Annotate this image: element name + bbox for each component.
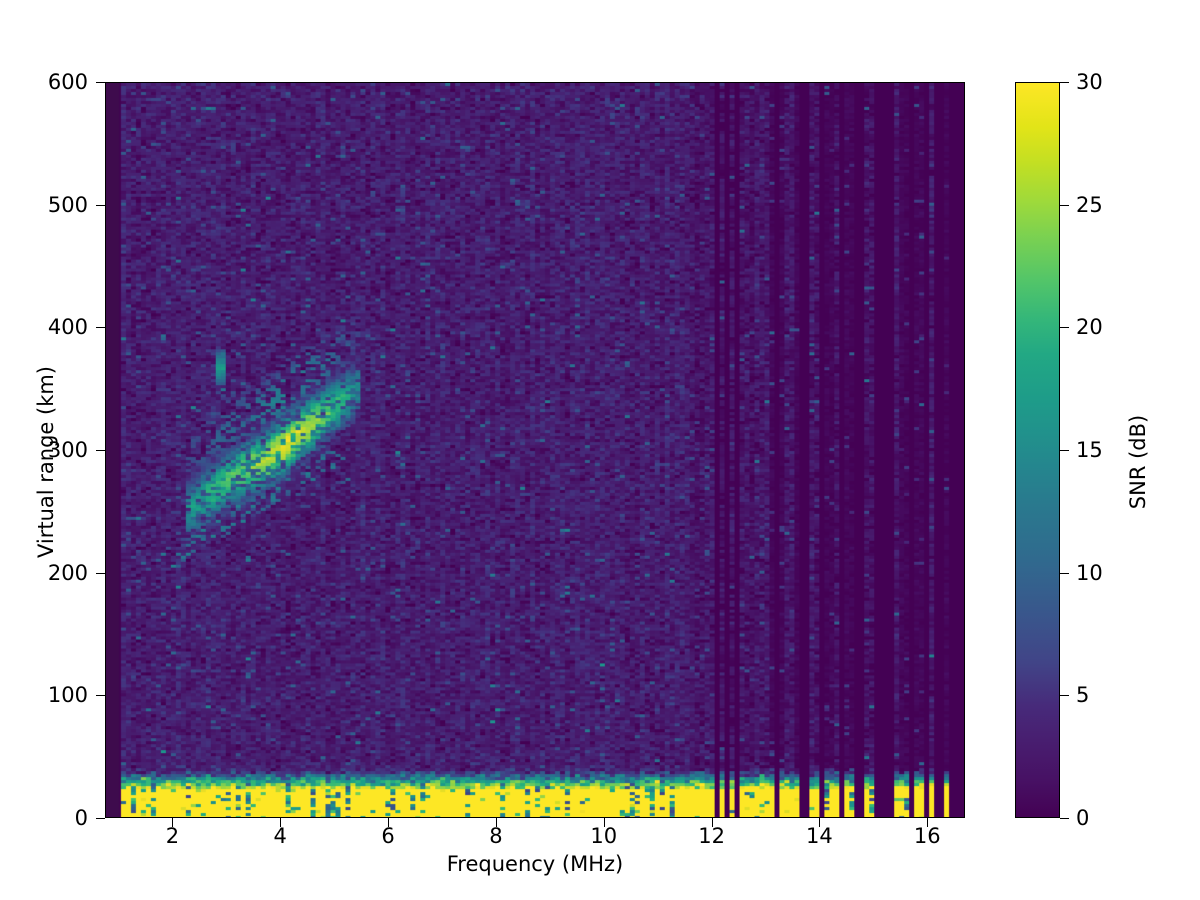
ionogram-plot-area[interactable] [105,82,965,818]
x-tick-label: 16 [914,824,941,848]
colorbar-tick-label: 10 [1076,561,1103,585]
ionogram-figure: IRF Kiruna Ionosonde KI167 2026-03-04 17… [0,0,1200,900]
colorbar-tick-mark [1060,450,1069,451]
x-tick-label: 6 [381,824,394,848]
y-tick-mark [96,327,105,328]
ionogram-heatmap [106,83,964,817]
y-tick-mark [96,573,105,574]
colorbar-tick-mark [1060,695,1069,696]
y-axis-label: Virtual range (km) [34,212,58,712]
colorbar-tick-mark [1060,327,1069,328]
x-tick-label: 14 [806,824,833,848]
colorbar-tick-label: 5 [1076,683,1089,707]
y-tick-mark [96,205,105,206]
y-tick-mark [96,818,105,819]
colorbar-tick-mark [1060,82,1069,83]
x-tick-label: 4 [274,824,287,848]
colorbar-gradient [1015,82,1060,818]
colorbar-tick-mark [1060,818,1069,819]
y-tick-mark [96,450,105,451]
colorbar-tick-mark [1060,205,1069,206]
y-tick-mark [96,82,105,83]
y-tick-label: 0 [75,806,88,830]
colorbar-label: SNR (dB) [1126,262,1150,662]
x-tick-label: 10 [590,824,617,848]
x-tick-label: 12 [698,824,725,848]
x-tick-label: 8 [489,824,502,848]
y-tick-label: 600 [48,70,88,94]
colorbar-tick-label: 25 [1076,193,1103,217]
colorbar-tick-mark [1060,573,1069,574]
x-axis-label: Frequency (MHz) [105,852,965,876]
colorbar-tick-label: 15 [1076,438,1103,462]
colorbar-tick-label: 0 [1076,806,1089,830]
colorbar-tick-label: 20 [1076,315,1103,339]
y-tick-mark [96,695,105,696]
x-tick-label: 2 [166,824,179,848]
colorbar-tick-label: 30 [1076,70,1103,94]
